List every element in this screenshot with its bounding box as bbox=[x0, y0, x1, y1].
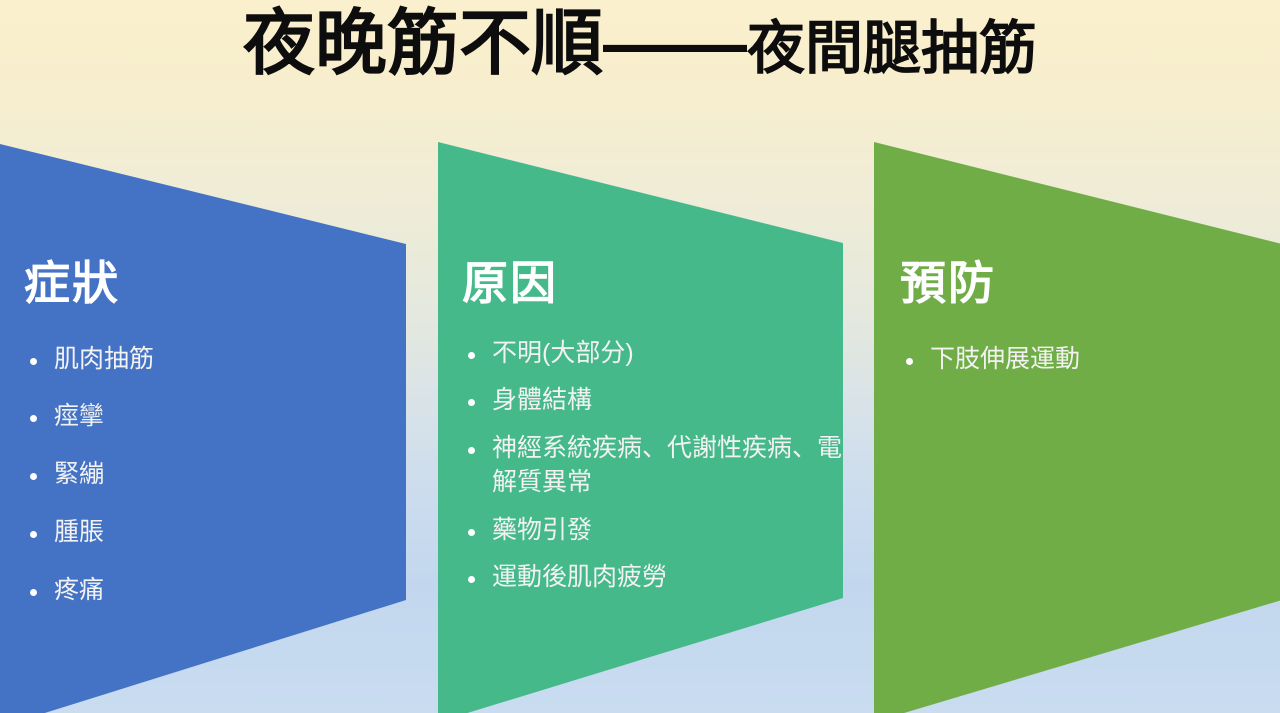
panel-heading-causes: 原因 bbox=[462, 258, 842, 309]
list-item: 肌肉抽筋 bbox=[24, 343, 354, 377]
list-item-label: 緊繃 bbox=[54, 460, 104, 488]
panel-shape-prevention[interactable] bbox=[874, 142, 1280, 713]
panel-symptoms: 症狀 肌肉抽筋 痙攣 緊繃 腫脹 疼痛 bbox=[24, 258, 354, 631]
bullet-list-causes: 不明(大部分) 身體結構 神經系統疾病、代謝性疾病、電解質異常 藥物引發 運動後… bbox=[462, 337, 842, 596]
list-item-label: 疼痛 bbox=[54, 576, 104, 604]
list-item-label: 不明(大部分) bbox=[492, 339, 634, 367]
list-item: 身體結構 bbox=[462, 384, 842, 418]
list-item-label: 神經系統疾病、代謝性疾病、電解質異常 bbox=[492, 434, 842, 496]
list-item-label: 腫脹 bbox=[54, 518, 104, 546]
bullet-dot-icon bbox=[30, 589, 37, 596]
list-item-label: 肌肉抽筋 bbox=[54, 345, 154, 373]
list-item: 痙攣 bbox=[24, 400, 354, 434]
panel-prevention: 預防 下肢伸展運動 bbox=[900, 258, 1250, 392]
bullet-dot-icon bbox=[468, 399, 475, 406]
bullet-dot-icon bbox=[30, 473, 37, 480]
list-item-label: 藥物引發 bbox=[492, 516, 592, 544]
list-item: 疼痛 bbox=[24, 574, 354, 608]
list-item-label: 運動後肌肉疲勞 bbox=[492, 563, 667, 591]
bullet-dot-icon bbox=[468, 576, 475, 583]
list-item: 腫脹 bbox=[24, 516, 354, 550]
list-item-label: 痙攣 bbox=[54, 402, 104, 430]
panel-causes: 原因 不明(大部分) 身體結構 神經系統疾病、代謝性疾病、電解質異常 藥物引發 … bbox=[462, 258, 842, 609]
panel-heading-prevention: 預防 bbox=[900, 258, 1250, 309]
bullet-list-prevention: 下肢伸展運動 bbox=[900, 343, 1250, 377]
bullet-dot-icon bbox=[906, 358, 913, 365]
bullet-dot-icon bbox=[468, 352, 475, 359]
slide-canvas: 夜晚筋不順——夜間腿抽筋 症狀 肌肉抽筋 痙攣 緊繃 腫脹 疼痛 原因 不明(大… bbox=[0, 0, 1280, 713]
list-item: 緊繃 bbox=[24, 458, 354, 492]
list-item: 藥物引發 bbox=[462, 514, 842, 548]
bullet-dot-icon bbox=[30, 415, 37, 422]
bullet-dot-icon bbox=[468, 529, 475, 536]
panel-heading-symptoms: 症狀 bbox=[24, 258, 354, 309]
bullet-dot-icon bbox=[30, 531, 37, 538]
list-item-label: 身體結構 bbox=[492, 386, 592, 414]
list-item-label: 下肢伸展運動 bbox=[930, 345, 1080, 373]
list-item: 不明(大部分) bbox=[462, 337, 842, 371]
list-item: 運動後肌肉疲勞 bbox=[462, 561, 842, 595]
bullet-dot-icon bbox=[468, 447, 475, 454]
list-item: 神經系統疾病、代謝性疾病、電解質異常 bbox=[462, 432, 842, 500]
bullet-list-symptoms: 肌肉抽筋 痙攣 緊繃 腫脹 疼痛 bbox=[24, 343, 354, 608]
list-item: 下肢伸展運動 bbox=[900, 343, 1250, 377]
bullet-dot-icon bbox=[30, 358, 37, 365]
